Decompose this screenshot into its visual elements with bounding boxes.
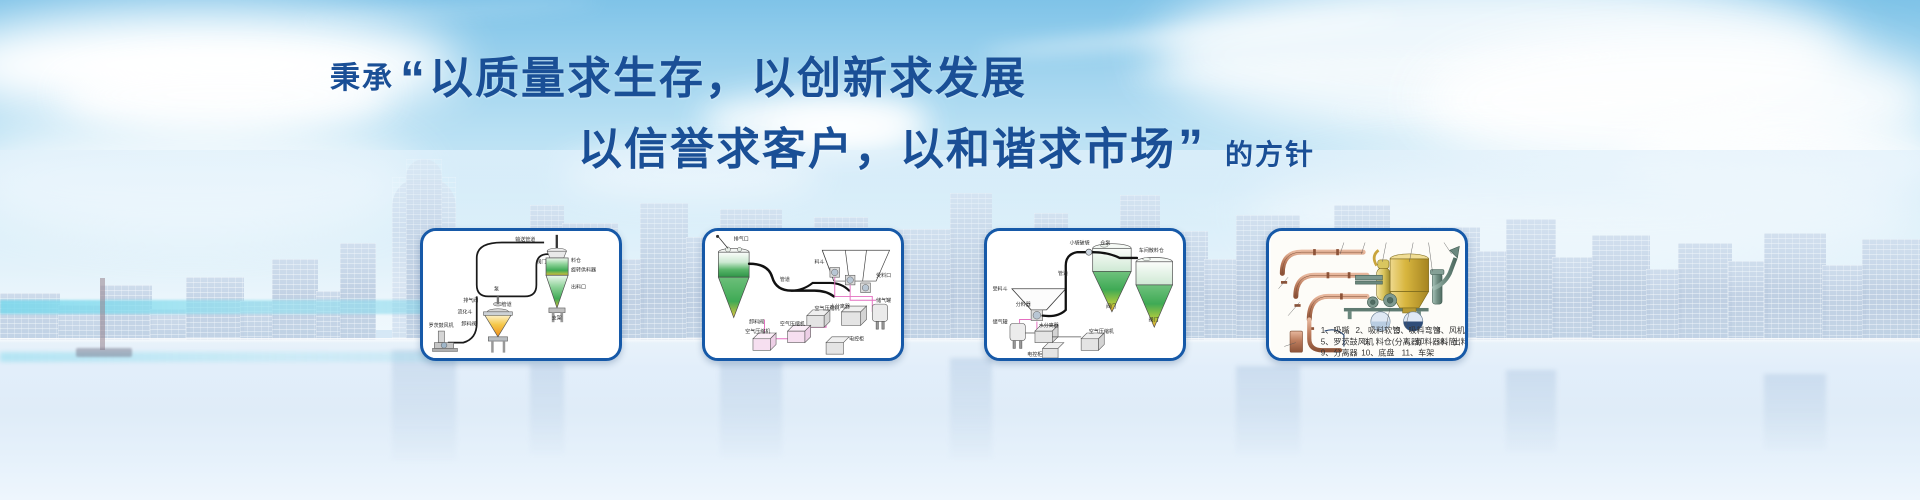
svg-text:储气罐: 储气罐 xyxy=(993,318,1008,325)
svg-text:分料器: 分料器 xyxy=(1016,301,1031,308)
svg-text:9、分离器: 9、分离器 xyxy=(1321,347,1358,357)
svg-text:10、底盘: 10、底盘 xyxy=(1361,347,1394,357)
slogan-headline: 秉承 “ 以质量求生存，以创新求发展 以信誉求客户，以和谐求市场 ” 的方针 xyxy=(0,48,1560,184)
svg-text:卸料阀: 卸料阀 xyxy=(461,320,476,327)
svg-text:卸料阀: 卸料阀 xyxy=(749,318,764,325)
svg-text:空气压缩机: 空气压缩机 xyxy=(780,320,805,327)
pneumatic-conveying-diagram-1: 输送管道 料仓 旋转供料器 出料口 阀门 排气阀 流化斗 卸料阀 泵 管道 罗茨… xyxy=(423,231,619,358)
slogan-line-1-text: 以质量求生存，以创新求发展 xyxy=(429,57,1027,101)
diagram-card-1[interactable]: 输送管道 料仓 旋转供料器 出料口 阀门 排气阀 流化斗 卸料阀 泵 管道 罗茨… xyxy=(420,228,622,361)
svg-text:阀门: 阀门 xyxy=(536,259,546,266)
water-reflection xyxy=(0,340,1920,500)
svg-text:输送管道: 输送管道 xyxy=(515,236,535,243)
svg-text:排气阀: 排气阀 xyxy=(463,297,478,304)
svg-text:流化斗: 流化斗 xyxy=(458,309,473,316)
svg-text:11、车架: 11、车架 xyxy=(1402,347,1435,357)
pneumatic-conveying-diagram-2: 料斗 受料口 管道 储气罐 水分离器 空气压缩机 空气压缩机 空气压缩机 电控柜… xyxy=(705,231,901,358)
svg-text:支架: 支架 xyxy=(552,315,562,322)
svg-text:8、出料口: 8、出料口 xyxy=(1440,337,1465,347)
pneumatic-conveying-diagram-3: 小袋破袋 仓泵 车间散料仓 管道 受料斗 分料器 储气罐 水分离器 空气压缩机 … xyxy=(987,231,1183,358)
svg-text:受料口: 受料口 xyxy=(876,272,891,279)
svg-text:阀门: 阀门 xyxy=(1106,303,1116,310)
svg-text:空气压缩机: 空气压缩机 xyxy=(745,328,770,335)
svg-text:2、吸料软管: 2、吸料软管 xyxy=(1355,325,1400,335)
open-quote-glyph: “ xyxy=(400,54,427,104)
slogan-suffix: 的方针 xyxy=(1225,141,1315,169)
slogan-line-1: 秉承 “ 以质量求生存，以创新求发展 xyxy=(0,48,1560,110)
diagram-card-3[interactable]: 小袋破袋 仓泵 车间散料仓 管道 受料斗 分料器 储气罐 水分离器 空气压缩机 … xyxy=(984,228,1186,361)
svg-text:管道: 管道 xyxy=(1058,270,1068,277)
svg-text:管道: 管道 xyxy=(502,301,512,308)
svg-text:管道: 管道 xyxy=(780,276,790,283)
svg-text:小袋破袋: 小袋破袋 xyxy=(1070,239,1090,246)
svg-text:出料口: 出料口 xyxy=(571,284,586,291)
svg-text:阀门: 阀门 xyxy=(1149,316,1159,323)
svg-text:仓泵: 仓泵 xyxy=(1100,239,1110,246)
slogan-line-2: 以信誉求客户，以和谐求市场 ” 的方针 xyxy=(0,122,1560,184)
slogan-line-2-text: 以信誉求客户，以和谐求市场 xyxy=(578,128,1176,172)
svg-text:排气口: 排气口 xyxy=(734,236,749,243)
svg-text:罗茨鼓风机: 罗茨鼓风机 xyxy=(429,322,454,329)
svg-text:空气压缩机: 空气压缩机 xyxy=(1089,328,1114,335)
svg-text:3、吸料弯管: 3、吸料弯管 xyxy=(1396,325,1441,335)
svg-text:电控柜: 电控柜 xyxy=(849,336,864,343)
diagram-card-row: 输送管道 料仓 旋转供料器 出料口 阀门 排气阀 流化斗 卸料阀 泵 管道 罗茨… xyxy=(0,228,1920,363)
slogan-prefix: 秉承 xyxy=(330,64,394,94)
svg-text:料仓: 料仓 xyxy=(571,257,581,264)
close-quote-glyph: ” xyxy=(1178,122,1205,172)
svg-text:水分离器: 水分离器 xyxy=(1039,322,1059,329)
svg-text:1、吸嘴: 1、吸嘴 xyxy=(1321,325,1350,335)
svg-text:电控柜: 电控柜 xyxy=(1027,351,1042,358)
svg-text:空气压缩机: 空气压缩机 xyxy=(815,305,840,312)
svg-text:4、风机: 4、风机 xyxy=(1436,325,1465,335)
svg-text:旋转供料器: 旋转供料器 xyxy=(571,266,596,273)
diagram-card-2[interactable]: 料斗 受料口 管道 储气罐 水分离器 空气压缩机 空气压缩机 空气压缩机 电控柜… xyxy=(702,228,904,361)
svg-text:泵: 泵 xyxy=(494,287,499,293)
svg-text:料斗: 料斗 xyxy=(815,259,825,266)
svg-text:受料斗: 受料斗 xyxy=(993,286,1008,293)
diagram-card-4[interactable]: 1、吸嘴 2、吸料软管 3、吸料弯管 4、风机 5、罗茨鼓风机 6、料仓(分离器… xyxy=(1266,228,1468,361)
bulk-powder-tanker-unloading-diagram: 1、吸嘴 2、吸料软管 3、吸料弯管 4、风机 5、罗茨鼓风机 6、料仓(分离器… xyxy=(1269,231,1465,358)
promo-banner: 秉承 “ 以质量求生存，以创新求发展 以信誉求客户，以和谐求市场 ” 的方针 xyxy=(0,0,1920,500)
svg-text:储气罐: 储气罐 xyxy=(876,297,891,304)
svg-text:车间散料仓: 车间散料仓 xyxy=(1139,247,1164,254)
